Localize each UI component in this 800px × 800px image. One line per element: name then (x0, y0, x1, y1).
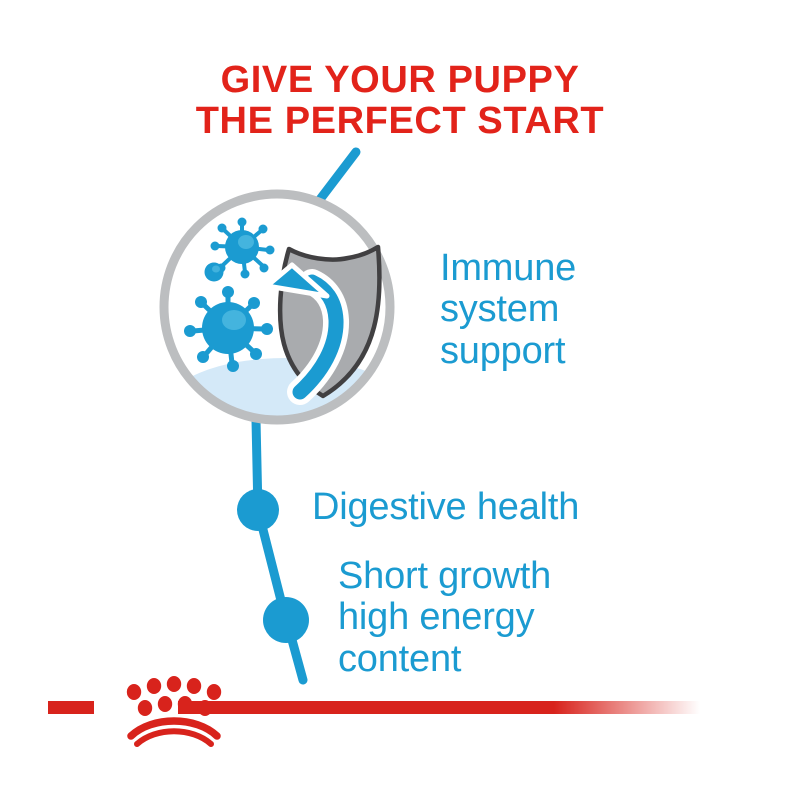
poster-root: GIVE YOUR PUPPY THE PERFECT START (0, 0, 800, 800)
royal-canin-crown-logo (0, 0, 800, 800)
